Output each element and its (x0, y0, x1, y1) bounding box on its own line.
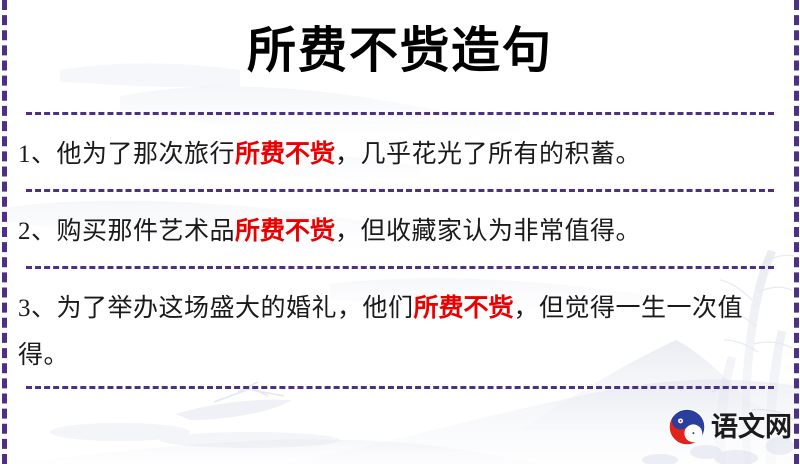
worksheet-page: 所费不赀造句 1、他为了那次旅行所费不赀，几乎花光了所有的积蓄。 2、购买那件艺… (0, 0, 800, 464)
site-logo-text: 语文网 (711, 412, 792, 442)
yinyang-circle-icon (668, 408, 706, 446)
separator-line-3 (26, 266, 774, 269)
sentence-item-1: 1、他为了那次旅行所费不赀，几乎花光了所有的积蓄。 (18, 131, 782, 178)
site-logo[interactable]: 语文网 (668, 408, 792, 446)
sentence-item-2: 2、购买那件艺术品所费不赀，但收藏家认为非常值得。 (18, 208, 782, 255)
sentence-2-number: 2、 (18, 218, 57, 245)
sentence-3-number: 3、 (18, 295, 57, 322)
sentence-2-text-before: 购买那件艺术品 (57, 218, 236, 245)
sentence-2-text-after: ，但收藏家认为非常值得。 (335, 218, 641, 245)
separator-line-4 (26, 386, 774, 389)
sentence-1-number: 1、 (18, 141, 57, 168)
sentence-3-text-before: 为了举办这场盛大的婚礼，他们 (57, 295, 414, 322)
separator-line-2 (26, 189, 774, 192)
sentence-1-text-before: 他为了那次旅行 (57, 141, 236, 168)
sentence-3-idiom-highlight: 所费不赀 (414, 294, 514, 322)
sentence-item-3: 3、为了举办这场盛大的婚礼，他们所费不赀，但觉得一生一次值得。 (18, 285, 782, 379)
sentence-1-idiom-highlight: 所费不赀 (235, 140, 335, 168)
separator-line-1 (26, 112, 774, 115)
sentence-1-text-after: ，几乎花光了所有的积蓄。 (335, 141, 641, 168)
sentence-2-idiom-highlight: 所费不赀 (235, 217, 335, 245)
page-title: 所费不赀造句 (0, 18, 800, 84)
